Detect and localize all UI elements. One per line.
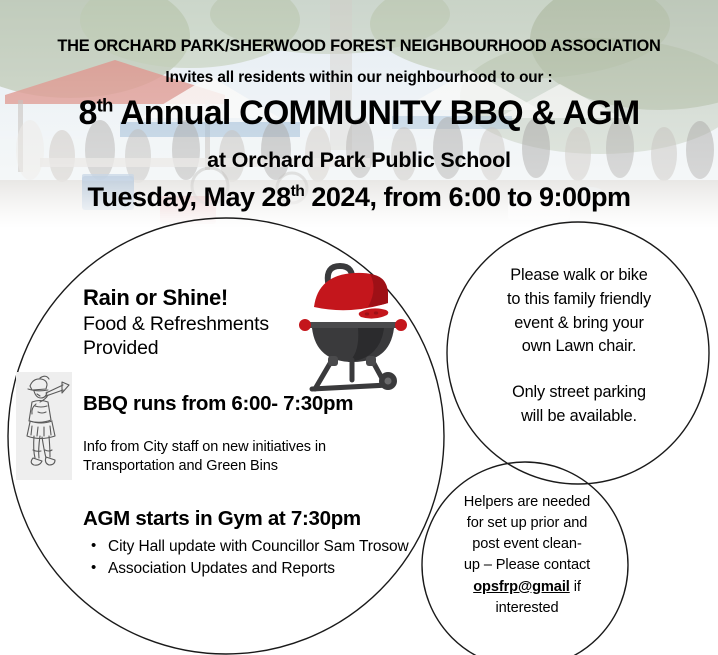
agm-bullet-list: •City Hall update with Councillor Sam Tr… bbox=[83, 536, 413, 579]
event-title-ordinal: th bbox=[97, 95, 113, 116]
food-refreshments-line2: Provided bbox=[83, 337, 413, 361]
top-right-circle-content: Please walk or bike to this family frien… bbox=[458, 264, 700, 429]
helpers-contact-line: opsfrp@gmail if bbox=[434, 577, 620, 598]
walk-bike-line-1: Please walk or bike bbox=[458, 264, 700, 288]
bbq-hours-heading: BBQ runs from 6:00- 7:30pm bbox=[83, 392, 413, 416]
association-name: THE ORCHARD PARK/SHERWOOD FOREST NEIGHBO… bbox=[0, 37, 718, 56]
helpers-line-6: interested bbox=[434, 598, 620, 619]
poster-root: THE ORCHARD PARK/SHERWOOD FOREST NEIGHBO… bbox=[0, 0, 718, 655]
bottom-right-circle-content: Helpers are needed for set up prior and … bbox=[434, 492, 620, 619]
contact-email-link[interactable]: opsfrp@gmail bbox=[473, 579, 570, 595]
event-title-number: 8 bbox=[79, 94, 97, 132]
parking-line-2: will be available. bbox=[458, 405, 700, 429]
agm-heading: AGM starts in Gym at 7:30pm bbox=[83, 507, 413, 531]
header-text-block: THE ORCHARD PARK/SHERWOOD FOREST NEIGHBO… bbox=[0, 0, 718, 228]
header-banner: THE ORCHARD PARK/SHERWOOD FOREST NEIGHBO… bbox=[0, 0, 718, 228]
list-item-label: City Hall update with Councillor Sam Tro… bbox=[108, 538, 409, 555]
trumpeter-herald-icon bbox=[16, 372, 72, 480]
contact-email-suffix: if bbox=[570, 579, 581, 595]
left-circle-content: Rain or Shine! Food & Refreshments Provi… bbox=[83, 285, 413, 580]
helpers-line-4: up – Please contact bbox=[434, 555, 620, 576]
walk-bike-line-4: own Lawn chair. bbox=[458, 335, 700, 359]
bullet-glyph: • bbox=[91, 536, 96, 556]
parking-line-1: Only street parking bbox=[458, 381, 700, 405]
city-info-line2: Transportation and Green Bins bbox=[83, 457, 413, 476]
bullet-glyph: • bbox=[91, 558, 96, 578]
event-location: at Orchard Park Public School bbox=[0, 148, 718, 173]
walk-bike-line-2: to this family friendly bbox=[458, 288, 700, 312]
city-info-line1: Info from City staff on new initiatives … bbox=[83, 438, 413, 457]
event-date: Tuesday, May 28th 2024, from 6:00 to 9:0… bbox=[0, 182, 718, 213]
event-date-ordinal: th bbox=[291, 183, 305, 200]
invitation-line: Invites all residents within our neighbo… bbox=[0, 69, 718, 87]
event-title-rest: Annual COMMUNITY BBQ & AGM bbox=[113, 94, 640, 132]
event-title: 8th Annual COMMUNITY BBQ & AGM bbox=[0, 94, 718, 133]
event-date-post: 2024, from 6:00 to 9:00pm bbox=[304, 182, 630, 212]
helpers-line-1: Helpers are needed bbox=[434, 492, 620, 513]
list-item-label: Association Updates and Reports bbox=[108, 560, 335, 577]
helpers-line-3: post event clean- bbox=[434, 534, 620, 555]
event-date-pre: Tuesday, May 28 bbox=[87, 182, 290, 212]
list-item: •Association Updates and Reports bbox=[108, 558, 413, 579]
list-item: •City Hall update with Councillor Sam Tr… bbox=[108, 536, 413, 557]
food-refreshments-line1: Food & Refreshments bbox=[83, 313, 413, 337]
walk-bike-line-3: event & bring your bbox=[458, 312, 700, 336]
rain-or-shine-heading: Rain or Shine! bbox=[83, 285, 413, 311]
helpers-line-2: for set up prior and bbox=[434, 513, 620, 534]
